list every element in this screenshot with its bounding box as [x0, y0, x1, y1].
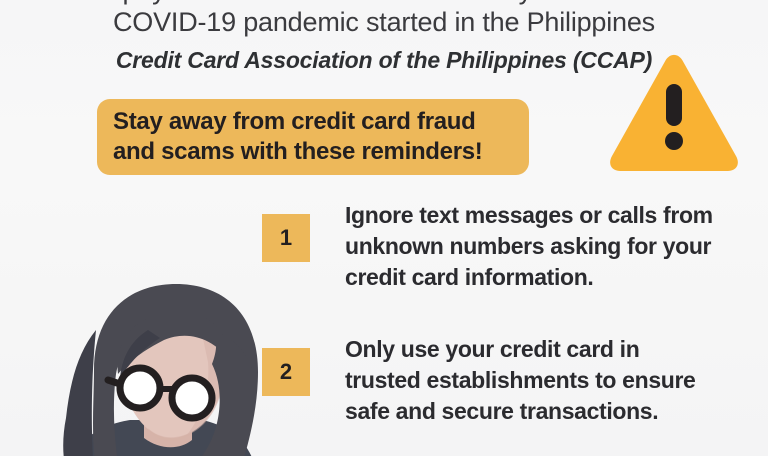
infographic-poster: payment and e-commerce industry since th… — [0, 0, 768, 456]
callout-line-1: Stay away from credit card fraud — [113, 107, 513, 137]
reminder-2-line-3: safe and secure transactions. — [345, 396, 765, 427]
headline-block: payment and e-commerce industry since th… — [0, 0, 768, 44]
reminder-2-line-1: Only use your credit card in — [345, 334, 765, 365]
reminder-number-badge-1: 1 — [262, 214, 310, 262]
reminder-1-line-3: credit card information. — [345, 262, 765, 293]
callout-banner: Stay away from credit card fraud and sca… — [97, 99, 529, 175]
reminder-text-1: Ignore text messages or calls from unkno… — [345, 200, 765, 293]
reminder-1-line-2: unknown numbers asking for your — [345, 231, 765, 262]
reminder-item-2: 2 Only use your credit card in trusted e… — [262, 334, 765, 427]
reminder-item-1: 1 Ignore text messages or calls from unk… — [262, 200, 765, 293]
headline-visible-line: COVID-19 pandemic started in the Philipp… — [0, 6, 768, 38]
woman-with-glasses-illustration — [52, 278, 304, 456]
warning-triangle-icon — [606, 52, 742, 174]
reminder-text-2: Only use your credit card in trusted est… — [345, 334, 765, 427]
reminder-2-line-2: trusted establishments to ensure — [345, 365, 765, 396]
callout-line-2: and scams with these reminders! — [113, 137, 513, 167]
reminder-1-line-1: Ignore text messages or calls from — [345, 200, 765, 231]
